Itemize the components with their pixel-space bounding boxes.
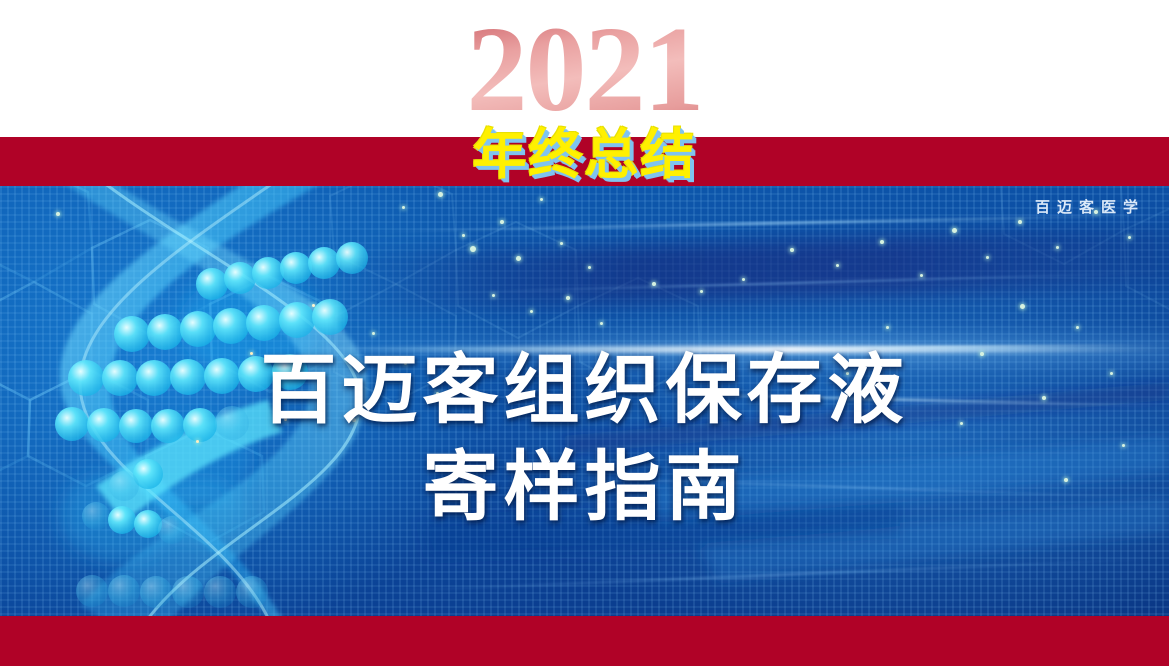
hexagon-lattice-center [330, 186, 700, 402]
header-white-area: 2021 [0, 0, 1169, 137]
background-graphics [0, 186, 1169, 616]
brand-watermark: 百迈客医学 [1035, 196, 1145, 217]
year-heading: 2021 [0, 10, 1169, 130]
red-accent-band-bottom [0, 616, 1169, 666]
dna-double-helix [18, 186, 368, 616]
annual-summary-label: 年终总结 [0, 125, 1169, 185]
light-wedges [420, 382, 1169, 580]
slide-stage-background: 百迈客医学 百迈客组织保存液 寄样指南 [0, 186, 1169, 616]
presentation-slide: 2021 年终总结 [0, 0, 1169, 666]
